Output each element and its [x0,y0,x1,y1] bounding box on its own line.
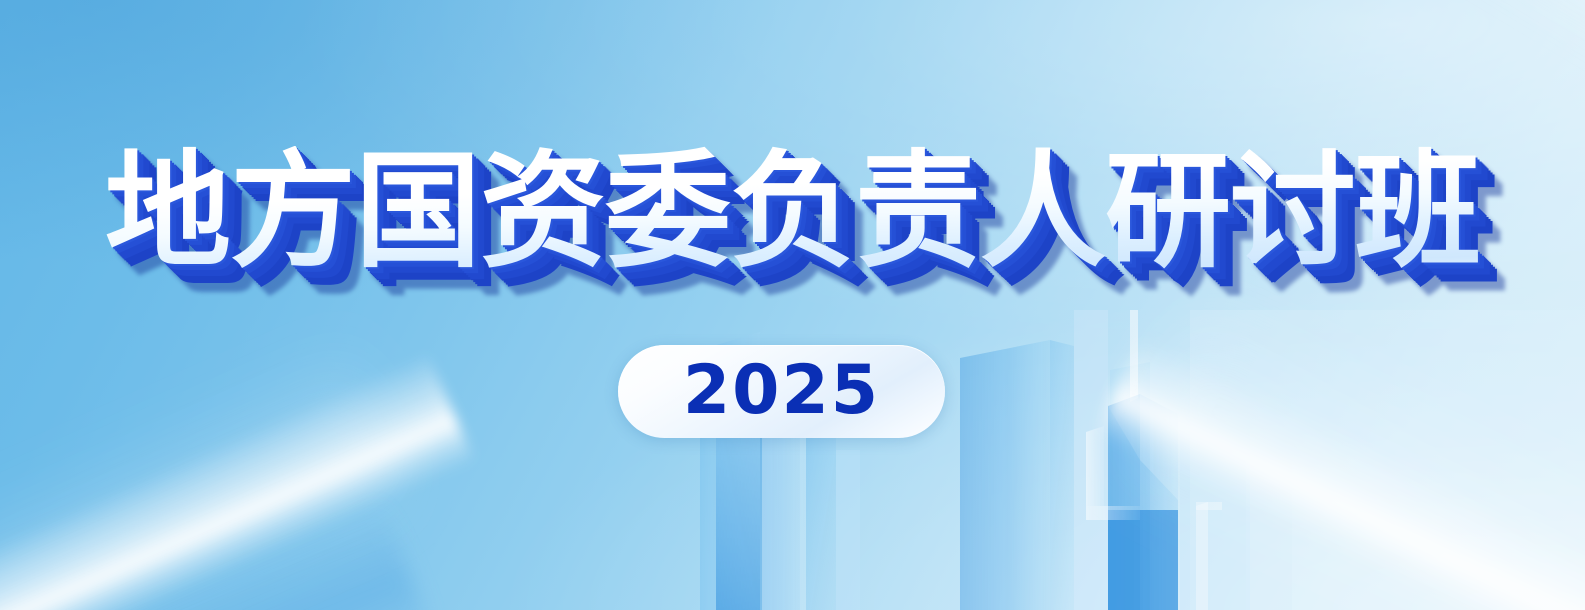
year-badge-label: 2025 [683,357,880,425]
banner-root: 地方国资委负责人研讨班 2025 [0,0,1585,610]
year-badge: 2025 [618,345,945,438]
